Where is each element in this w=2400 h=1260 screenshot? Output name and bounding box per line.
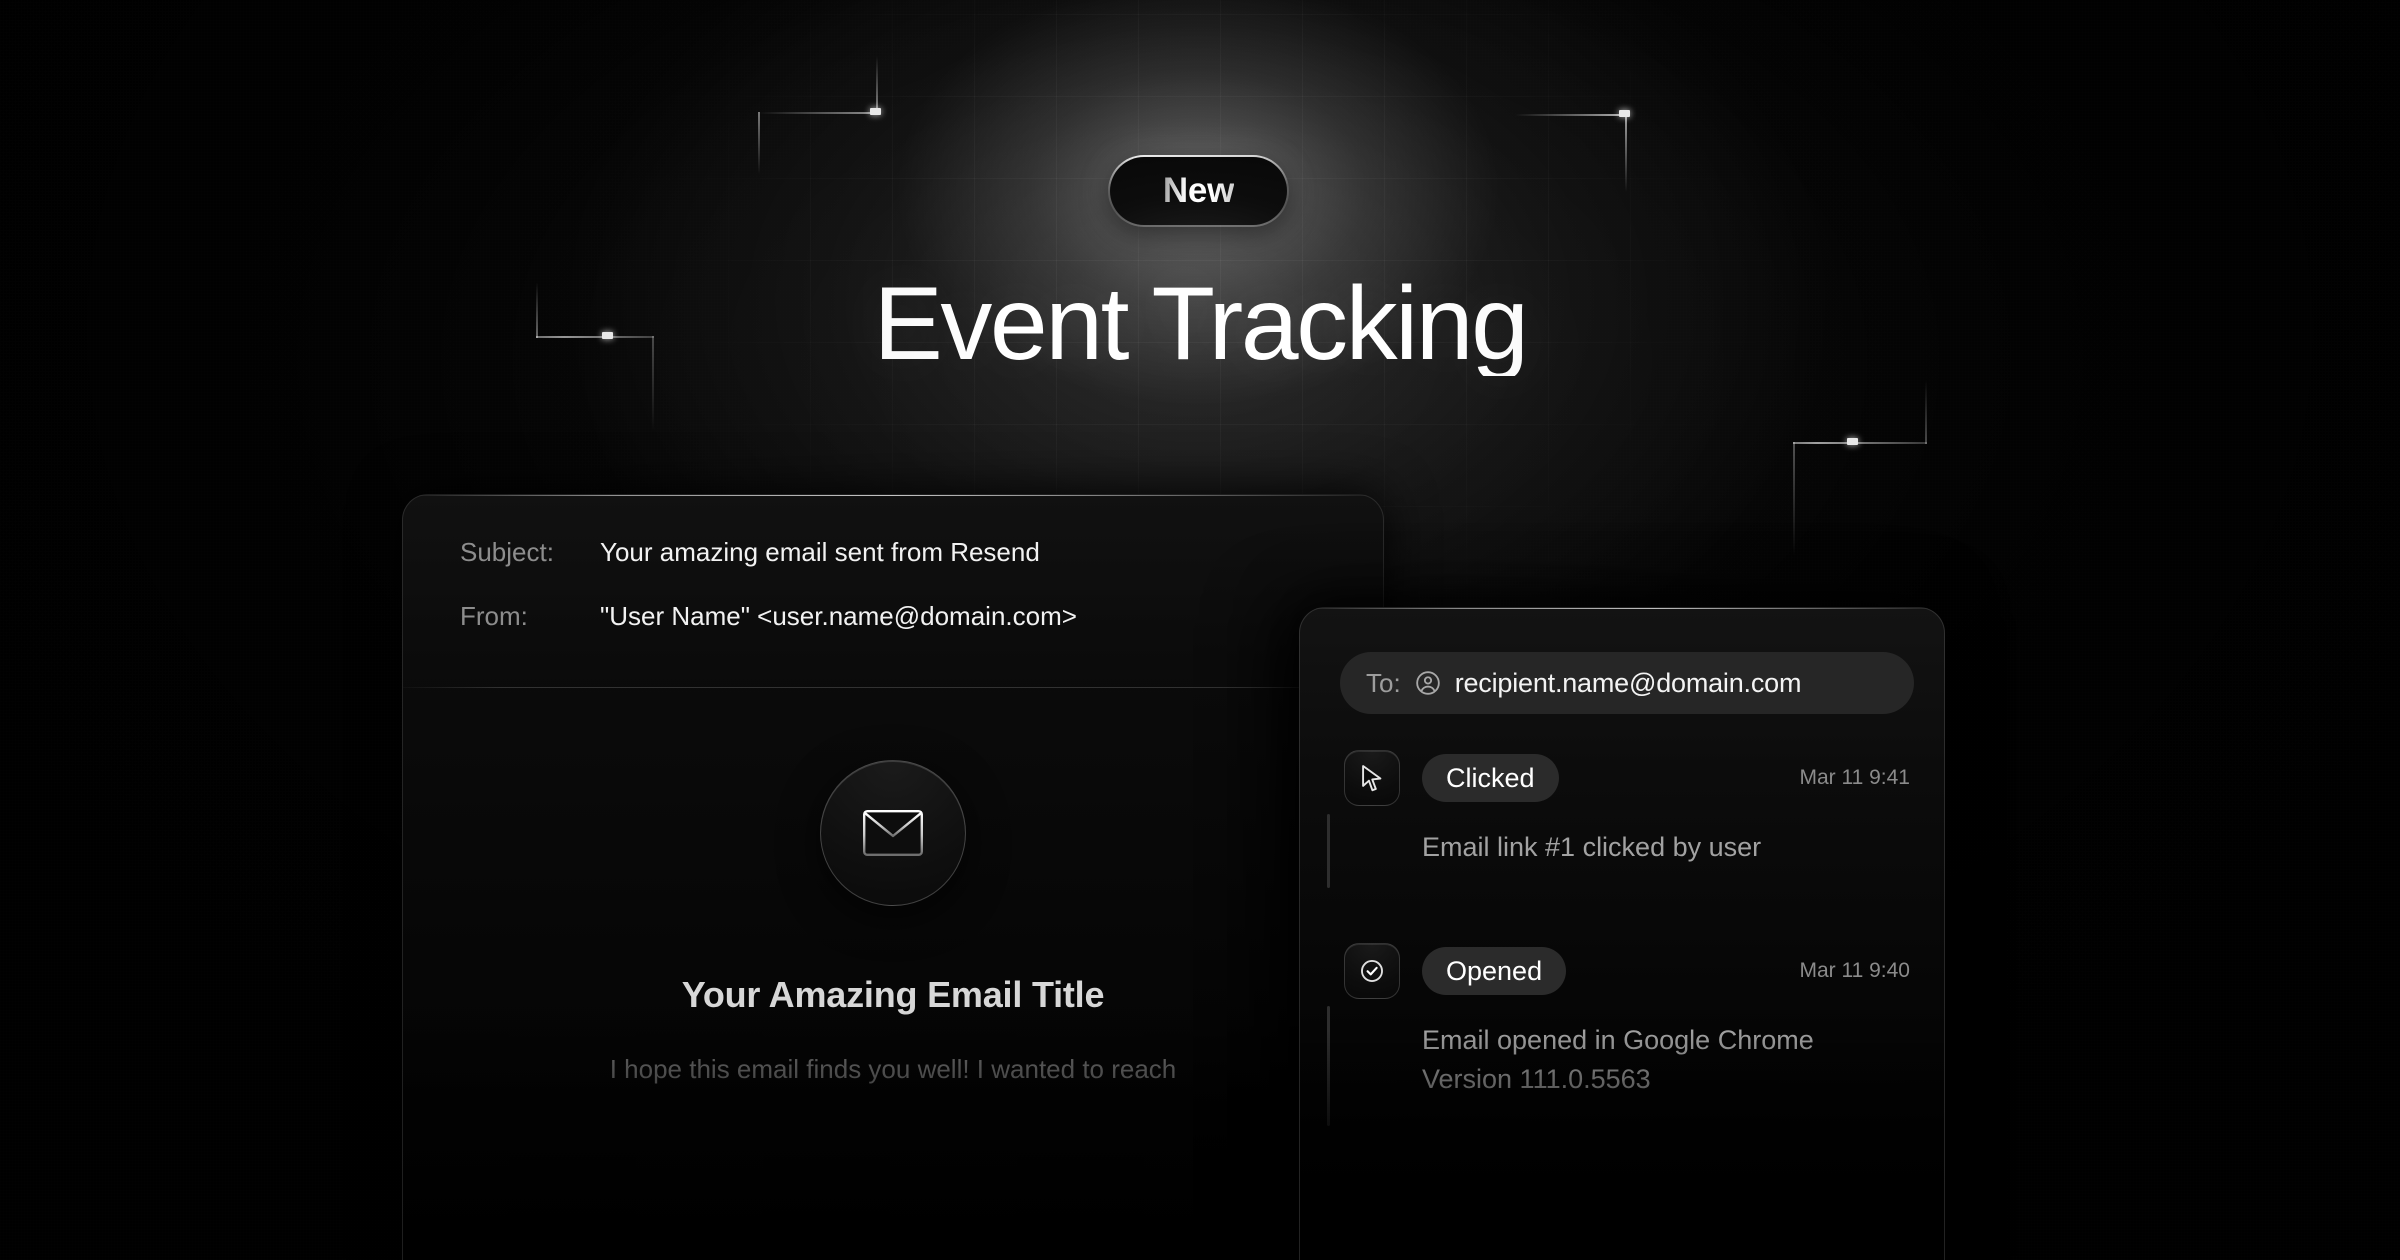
events-panel: To: recipient.name@domain.com — [1299, 607, 1945, 1260]
email-meta-row-subject: Subject: Your amazing email sent from Re… — [403, 537, 1383, 601]
event-header: Opened Mar 11 9:40 — [1344, 943, 1944, 999]
cursor-pointer-icon — [1344, 750, 1400, 806]
check-circle-icon — [1344, 943, 1400, 999]
hero-section: New Event Tracking Subject: Your amazing… — [0, 0, 2400, 1260]
event-header: Clicked Mar 11 9:41 — [1344, 750, 1944, 806]
card-top-highlight — [403, 495, 1383, 496]
to-label: To: — [1366, 668, 1401, 699]
email-header: Subject: Your amazing email sent from Re… — [403, 495, 1383, 688]
email-body-paragraph: I hope this email finds you well! I want… — [610, 1050, 1177, 1089]
page-title: Event Tracking — [0, 272, 2400, 376]
new-badge-label: New — [1163, 171, 1234, 211]
recipient-field[interactable]: To: recipient.name@domain.com — [1340, 652, 1914, 714]
events-top-highlight — [1300, 608, 1944, 609]
subject-value: Your amazing email sent from Resend — [600, 537, 1040, 568]
timeline-event-clicked[interactable]: Clicked Mar 11 9:41 Email link #1 clicke… — [1344, 750, 1944, 873]
new-badge-inner: New — [1110, 157, 1287, 225]
event-timeline: Clicked Mar 11 9:41 Email link #1 clicke… — [1300, 750, 1944, 1105]
timeline-connector-1 — [1327, 814, 1330, 888]
event-timestamp: Mar 11 9:40 — [1799, 959, 1910, 983]
new-badge: New — [1108, 155, 1289, 227]
envelope-icon — [820, 760, 966, 906]
event-status-badge: Opened — [1422, 947, 1566, 995]
event-timestamp: Mar 11 9:41 — [1799, 766, 1910, 790]
email-preview-card: Subject: Your amazing email sent from Re… — [402, 494, 1384, 1260]
from-value: "User Name" <user.name@domain.com> — [600, 601, 1077, 632]
email-body: Your Amazing Email Title I hope this ema… — [403, 688, 1383, 1089]
recipient-email: recipient.name@domain.com — [1455, 668, 1802, 699]
event-description: Email link #1 clicked by user — [1344, 806, 1944, 873]
from-label: From: — [460, 601, 600, 632]
event-status-badge: Clicked — [1422, 754, 1559, 802]
timeline-event-opened[interactable]: Opened Mar 11 9:40 Email opened in Googl… — [1344, 943, 1944, 1105]
email-body-title: Your Amazing Email Title — [682, 974, 1105, 1016]
email-meta-row-from: From: "User Name" <user.name@domain.com> — [403, 601, 1383, 665]
event-description: Email opened in Google Chrome Version 11… — [1344, 999, 1814, 1105]
user-circle-icon — [1415, 670, 1441, 696]
subject-label: Subject: — [460, 537, 600, 568]
timeline-connector-2 — [1327, 1006, 1330, 1126]
